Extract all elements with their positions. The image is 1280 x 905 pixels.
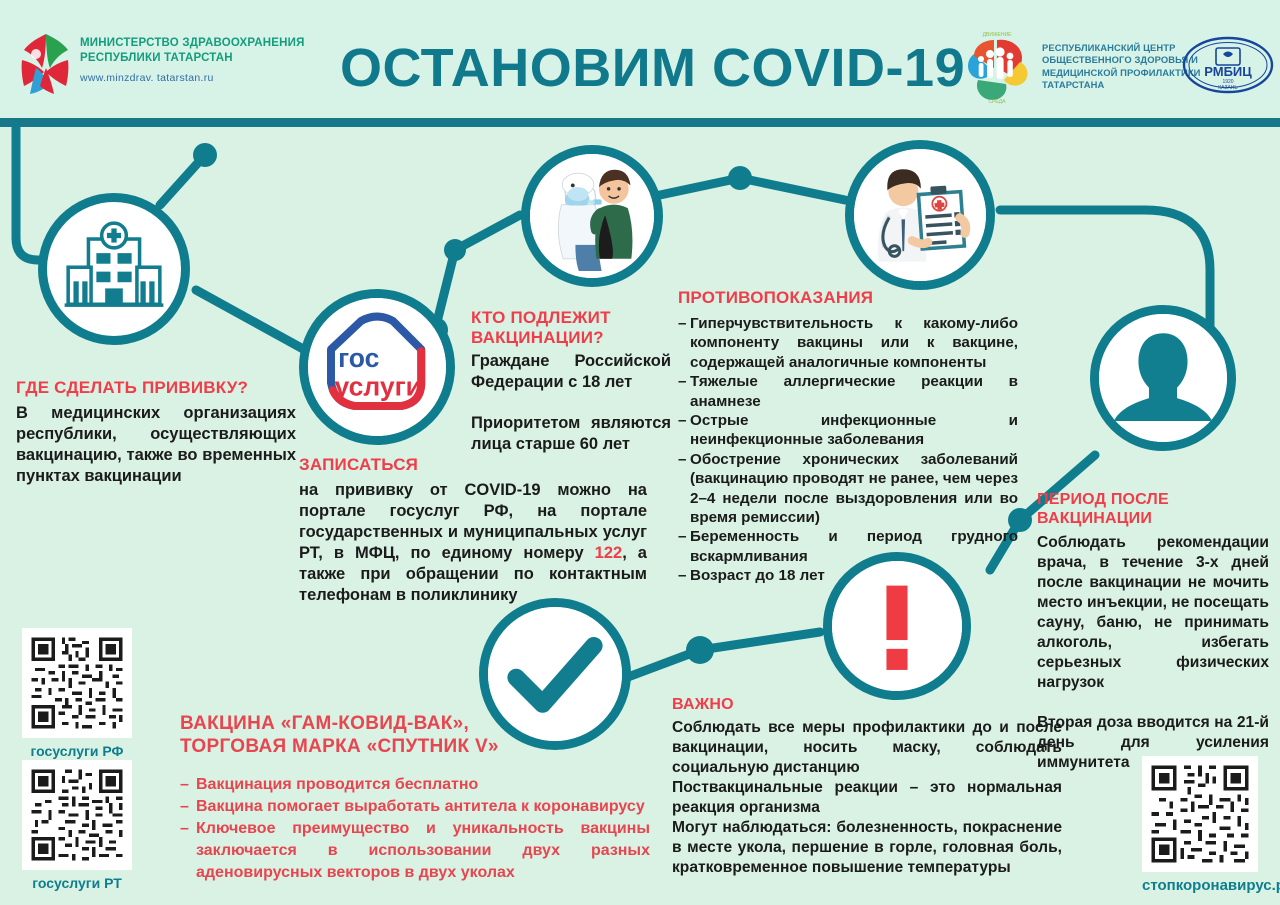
health-center-emblem-icon: ДВИЖЕНИЕ СРЕДА bbox=[958, 32, 1036, 104]
list-dash: – bbox=[180, 818, 189, 840]
qr-stopkoronavirus-label: стопкоронавирус.рф bbox=[1142, 877, 1258, 894]
list-dash: – bbox=[678, 450, 686, 469]
list-dash: – bbox=[678, 314, 686, 333]
important-heading: ВАЖНО bbox=[672, 695, 1062, 714]
svg-text:гос: гос bbox=[338, 343, 379, 373]
vaccine-item-text: Ключевое преимущество и уникальность вак… bbox=[196, 820, 650, 881]
vaccine-item-text: Вакцинация проводится бесплатно bbox=[196, 776, 478, 793]
contraindication-item: –Возраст до 18 лет bbox=[678, 566, 1018, 585]
ministry-url: www.minzdrav. tatarstan.ru bbox=[80, 72, 316, 84]
important-paragraph: Поствакцинальные реакции – это нормальна… bbox=[672, 778, 1062, 818]
where-heading: ГДЕ СДЕЛАТЬ ПРИВИВКУ? bbox=[16, 378, 296, 398]
contraindication-text: Обострение хронических заболеваний (вакц… bbox=[690, 451, 1018, 526]
public-health-center-logo: ДВИЖЕНИЕ СРЕДА РЕСПУБЛИКАНСКИЙ ЦЕНТР ОБЩ… bbox=[958, 28, 1198, 106]
who-body: Граждане Российской Федерации с 18 лет bbox=[471, 351, 671, 393]
node-person bbox=[1090, 305, 1236, 451]
header-divider bbox=[0, 118, 1280, 127]
svg-text:КАЗАНЬ: КАЗАНЬ bbox=[1218, 85, 1238, 91]
vaccine-item-text: Вакцина помогает выработать антитела к к… bbox=[196, 798, 645, 815]
where-body: В медицинских организациях республики, о… bbox=[16, 403, 296, 487]
contraindication-text: Острые инфекционные и неинфекционные заб… bbox=[690, 412, 1018, 448]
ministry-name-line2: РЕСПУБЛИКИ ТАТАРСТАН bbox=[80, 51, 316, 66]
page-title: ОСТАНОВИМ COVID-19 bbox=[340, 36, 950, 100]
contraindication-text: Беременность и период грудного вскармлив… bbox=[690, 528, 1018, 564]
qr-stopkoronavirus-block[interactable]: стопкоронавирус.рф bbox=[1142, 756, 1258, 894]
hospital-icon bbox=[47, 202, 181, 336]
contraindication-text: Гиперчувствительность к какому-либо комп… bbox=[690, 315, 1018, 371]
signup-heading: ЗАПИСАТЬСЯ bbox=[299, 455, 647, 475]
contraindication-item: –Тяжелые аллергические реакции в анамнез… bbox=[678, 372, 1018, 411]
important-paragraph: Соблюдать все меры профилактики до и пос… bbox=[672, 718, 1062, 778]
vaccine-title-line1: ВАКЦИНА «ГАМ-КОВИД-ВАК», bbox=[180, 712, 650, 735]
qr-gosuslugi-rt-block[interactable]: госуслуги РТ bbox=[22, 760, 132, 891]
who-heading-line1: КТО ПОДЛЕЖИТ bbox=[471, 308, 671, 328]
qr-gosuslugi-rf-block[interactable]: госуслуги РФ bbox=[22, 628, 132, 759]
node-vaccination-couple bbox=[521, 145, 663, 287]
section-important: ВАЖНО Соблюдать все меры профилактики до… bbox=[672, 695, 1062, 878]
contraindication-item: –Гиперчувствительность к какому-либо ком… bbox=[678, 314, 1018, 372]
svg-text:РМБИЦ: РМБИЦ bbox=[1204, 64, 1252, 79]
qr-stopkoronavirus[interactable] bbox=[1142, 756, 1258, 872]
person-silhouette-icon bbox=[1099, 314, 1227, 442]
rmbic-logo: РМБИЦ 1920 КАЗАНЬ bbox=[1182, 36, 1274, 94]
vaccine-item: –Вакцинация проводится бесплатно bbox=[180, 774, 650, 796]
ministry-name-line1: МИНИСТЕРСТВО ЗДРАВООХРАНЕНИЯ bbox=[80, 36, 316, 51]
contraindication-text: Тяжелые аллергические реакции в анамнезе bbox=[690, 373, 1018, 409]
list-dash: – bbox=[180, 796, 189, 818]
doctor-checklist-icon bbox=[854, 149, 986, 281]
who-heading-line2: ВАКЦИНАЦИИ? bbox=[471, 328, 671, 348]
after-body: Соблюдать рекомендации врача, в течение … bbox=[1037, 533, 1269, 693]
signup-body: на прививку от COVID-19 можно на портале… bbox=[299, 480, 647, 606]
infographic-poster: МИНИСТЕРСТВО ЗДРАВООХРАНЕНИЯ РЕСПУБЛИКИ … bbox=[0, 0, 1280, 905]
contraindication-text: Возраст до 18 лет bbox=[690, 567, 825, 584]
after-heading: ПЕРИОД ПОСЛЕ ВАКЦИНАЦИИ bbox=[1037, 490, 1269, 528]
section-where: ГДЕ СДЕЛАТЬ ПРИВИВКУ? В медицинских орга… bbox=[16, 378, 296, 487]
vaccine-item: –Ключевое преимущество и уникальность ва… bbox=[180, 818, 650, 884]
tatarstan-emblem-icon bbox=[16, 32, 74, 96]
vaccination-couple-icon bbox=[530, 154, 654, 278]
svg-text:услуги: услуги bbox=[335, 371, 422, 401]
list-dash: – bbox=[678, 527, 686, 546]
contraindication-item: –Обострение хронических заболеваний (вак… bbox=[678, 450, 1018, 528]
section-after-vaccination: ПЕРИОД ПОСЛЕ ВАКЦИНАЦИИ Соблюдать рекоме… bbox=[1037, 490, 1269, 773]
public-health-center-name: РЕСПУБЛИКАНСКИЙ ЦЕНТР ОБЩЕСТВЕННОГО ЗДОР… bbox=[1042, 42, 1202, 92]
who-priority: Приоритетом являются лица старше 60 лет bbox=[471, 413, 671, 455]
ministry-logo: МИНИСТЕРСТВО ЗДРАВООХРАНЕНИЯ РЕСПУБЛИКИ … bbox=[16, 30, 316, 102]
svg-text:СРЕДА: СРЕДА bbox=[988, 99, 1006, 104]
signup-phone: 122 bbox=[595, 544, 623, 562]
qr-gosuslugi-rt-label: госуслуги РТ bbox=[22, 875, 132, 891]
qr-gosuslugi-rf[interactable] bbox=[22, 628, 132, 738]
contraindication-item: –Острые инфекционные и неинфекционные за… bbox=[678, 411, 1018, 450]
section-signup: ЗАПИСАТЬСЯ на прививку от COVID-19 можно… bbox=[299, 455, 647, 606]
node-doctor-checklist bbox=[845, 140, 995, 290]
list-dash: – bbox=[678, 372, 686, 391]
qr-gosuslugi-rf-label: госуслуги РФ bbox=[22, 743, 132, 759]
qr-gosuslugi-rt[interactable] bbox=[22, 760, 132, 870]
list-dash: – bbox=[678, 566, 686, 585]
contraindications-heading: ПРОТИВОПОКАЗАНИЯ bbox=[678, 288, 1018, 308]
contraindication-item: –Беременность и период грудного вскармли… bbox=[678, 527, 1018, 566]
section-vaccine: ВАКЦИНА «ГАМ-КОВИД-ВАК», ТОРГОВАЯ МАРКА … bbox=[180, 712, 650, 884]
svg-text:ДВИЖЕНИЕ: ДВИЖЕНИЕ bbox=[983, 32, 1012, 38]
node-hospital bbox=[38, 193, 190, 345]
section-contraindications: ПРОТИВОПОКАЗАНИЯ –Гиперчувствительность … bbox=[678, 288, 1018, 586]
node-gosuslugi: гос услуги bbox=[299, 289, 455, 445]
section-who: КТО ПОДЛЕЖИТ ВАКЦИНАЦИИ? Граждане Россий… bbox=[471, 308, 671, 455]
gosuslugi-logo-icon: гос услуги bbox=[308, 298, 446, 436]
list-dash: – bbox=[180, 774, 189, 796]
list-dash: – bbox=[678, 411, 686, 430]
vaccine-title-line2: ТОРГОВАЯ МАРКА «СПУТНИК V» bbox=[180, 735, 650, 758]
vaccine-item: –Вакцина помогает выработать антитела к … bbox=[180, 796, 650, 818]
important-paragraph: Могут наблюдаться: болезненность, покрас… bbox=[672, 818, 1062, 878]
